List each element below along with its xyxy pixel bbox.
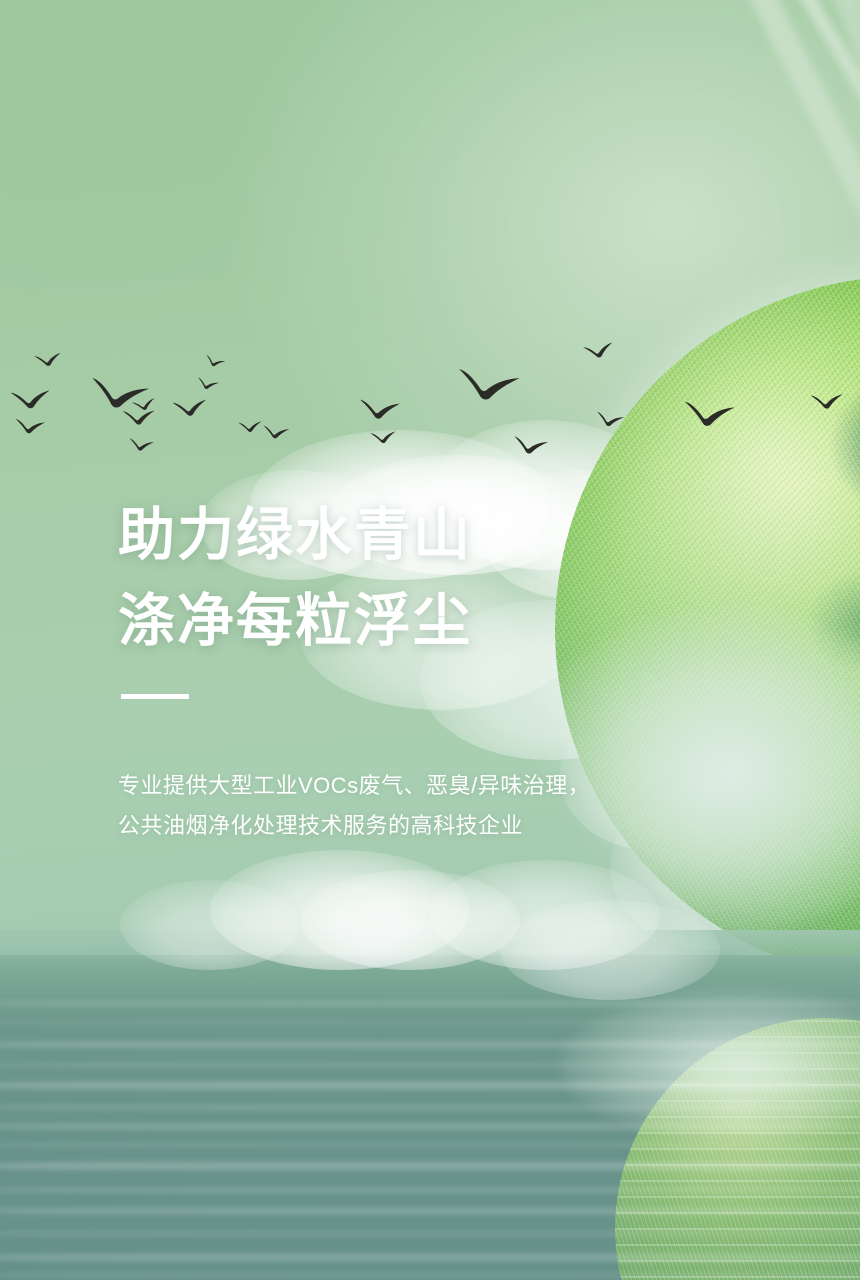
subtitle-line-1: 专业提供大型工业VOCs废气、恶臭/异味治理， bbox=[118, 766, 590, 806]
headline-line-1: 助力绿水青山 bbox=[118, 492, 472, 578]
subtitle-line-2: 公共油烟净化处理技术服务的高科技企业 bbox=[118, 806, 590, 846]
title-divider bbox=[121, 694, 189, 699]
subtitle: 专业提供大型工业VOCs废气、恶臭/异味治理， 公共油烟净化处理技术服务的高科技… bbox=[118, 766, 590, 846]
cloud bbox=[300, 870, 520, 970]
cloud bbox=[120, 880, 300, 970]
headline-line-2: 涤净每粒浮尘 bbox=[118, 578, 472, 664]
cloud bbox=[430, 860, 660, 970]
cloud bbox=[500, 900, 720, 1000]
eco-poster: 助力绿水青山 涤净每粒浮尘 专业提供大型工业VOCs废气、恶臭/异味治理， 公共… bbox=[0, 0, 860, 1280]
page-title: 助力绿水青山 涤净每粒浮尘 bbox=[118, 492, 472, 664]
cloud bbox=[210, 850, 470, 970]
